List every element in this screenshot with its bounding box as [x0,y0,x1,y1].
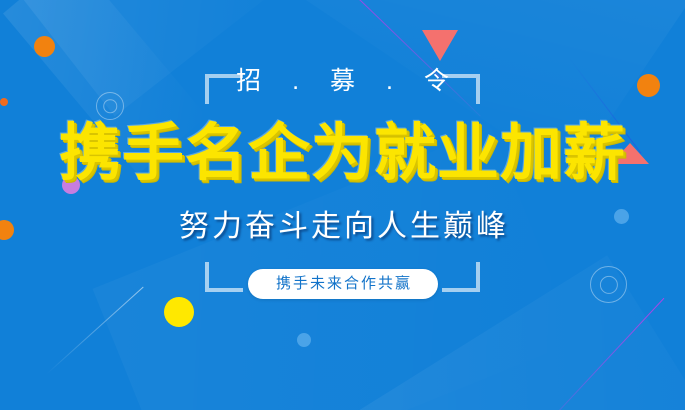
subheadline-text: 努力奋斗走向人生巅峰 [0,206,685,248]
eyebrow-text: 招 . 募 . 令 [0,64,685,98]
promo-banner: 招 . 募 . 令 携手名企为就业加薪 努力奋斗走向人生巅峰 携手未来合作共赢 [0,0,685,410]
cta-button[interactable]: 携手未来合作共赢 [248,269,438,299]
banner-content: 招 . 募 . 令 携手名企为就业加薪 努力奋斗走向人生巅峰 携手未来合作共赢 [0,0,685,410]
headline-text: 携手名企为就业加薪 [0,118,685,190]
